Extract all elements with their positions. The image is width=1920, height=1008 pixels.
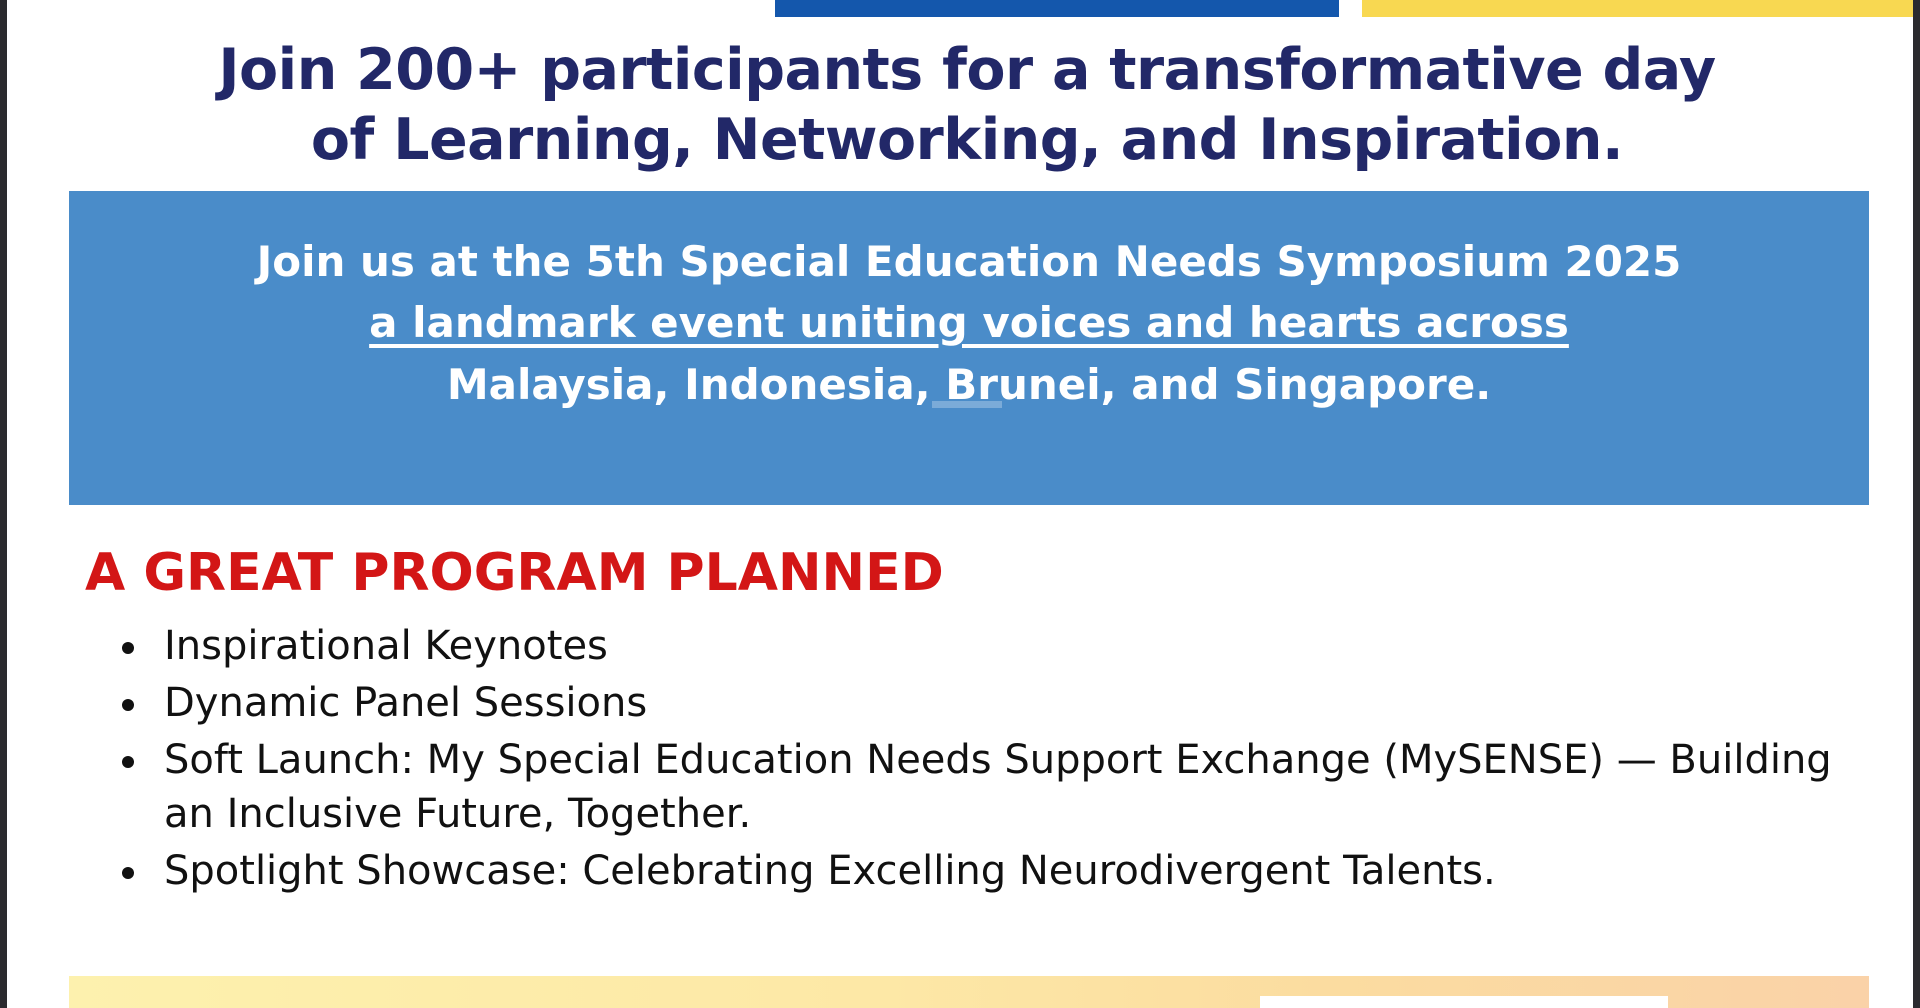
list-item: Dynamic Panel Sessions: [112, 677, 1872, 730]
program-section-heading: A GREAT PROGRAM PLANNED: [85, 543, 944, 603]
poster-canvas: Join 200+ participants for a transformat…: [0, 0, 1920, 1008]
event-invitation-panel: Join us at the 5th Special Education Nee…: [69, 191, 1869, 505]
invitation-line-1: Join us at the 5th Special Education Nee…: [69, 231, 1869, 292]
watermark-artifact: [932, 401, 1002, 408]
list-item-label: Inspirational Keynotes: [164, 620, 1872, 673]
list-item-label: Soft Launch: My Special Education Needs …: [164, 734, 1872, 840]
yellow-accent-bar: [1362, 0, 1920, 17]
headline-line-2: of Learning, Networking, and Inspiration…: [67, 106, 1867, 176]
blue-accent-bar: [775, 0, 1339, 17]
list-item: Spotlight Showcase: Celebrating Excellin…: [112, 845, 1872, 898]
bullet-dot-icon: [122, 642, 134, 654]
bullet-dot-icon: [122, 756, 134, 768]
list-item-label: Spotlight Showcase: Celebrating Excellin…: [164, 845, 1872, 898]
list-item: Inspirational Keynotes: [112, 620, 1872, 673]
bottom-strip-notch: [1260, 996, 1668, 1008]
invitation-line-2: a landmark event uniting voices and hear…: [69, 292, 1869, 353]
bullet-dot-icon: [122, 699, 134, 711]
headline-line-1: Join 200+ participants for a transformat…: [67, 36, 1867, 106]
program-list: Inspirational Keynotes Dynamic Panel Ses…: [112, 620, 1872, 902]
list-item: Soft Launch: My Special Education Needs …: [112, 734, 1872, 840]
list-item-label: Dynamic Panel Sessions: [164, 677, 1872, 730]
bullet-dot-icon: [122, 867, 134, 879]
page-title: Join 200+ participants for a transformat…: [67, 36, 1867, 175]
